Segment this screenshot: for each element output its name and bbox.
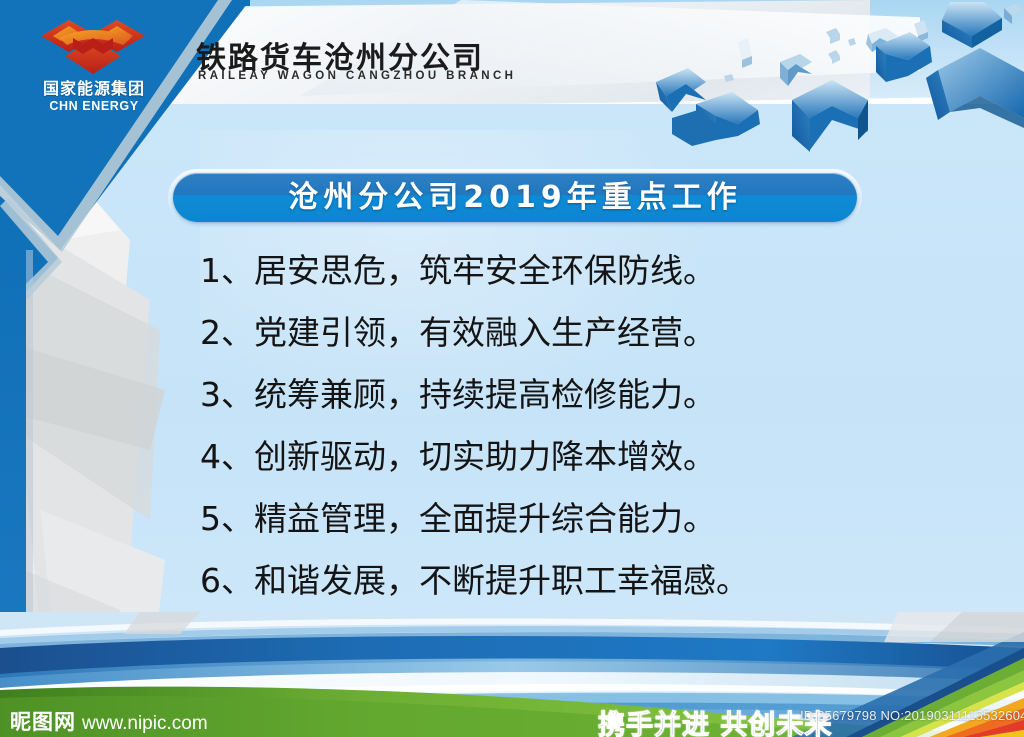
logo-company-cn: 国家能源集团	[24, 80, 164, 98]
logo: 国家能源集团 CHN ENERGY	[24, 16, 164, 116]
list-item: 2、党建引领，有效融入生产经营。	[200, 302, 860, 364]
chn-energy-emblem-icon	[39, 16, 149, 78]
blue-left-strip	[0, 250, 26, 670]
logo-company-en: CHN ENERGY	[24, 99, 164, 114]
list-item: 6、和谐发展，不断提升职工幸福感。	[200, 550, 860, 612]
list-item: 1、居安思危，筑牢安全环保防线。	[200, 240, 860, 302]
footer-slogan: 携手并进 共创未来	[598, 703, 832, 737]
image-id-code: ID:25679798 NO:20190311115532604036	[800, 708, 1024, 723]
nipic-watermark: 昵图网www.nipic.com	[10, 706, 208, 736]
floating-3d-blue-blocks-icon	[620, 0, 1024, 190]
work-items-list: 1、居安思危，筑牢安全环保防线。 2、党建引领，有效融入生产经营。 3、统筹兼顾…	[200, 240, 860, 612]
header-title-en: RAILEAY WAGON CANGZHOU BRANCH	[198, 70, 516, 82]
list-item: 5、精益管理，全面提升综合能力。	[200, 488, 860, 550]
banner-title: 沧州分公司2019年重点工作	[173, 173, 857, 222]
blue-left-strip-bevel	[26, 250, 33, 670]
list-item: 3、统筹兼顾，持续提高检修能力。	[200, 364, 860, 426]
list-item: 4、创新驱动，切实助力降本增效。	[200, 426, 860, 488]
watermark-url: www.nipic.com	[82, 713, 208, 734]
poster-canvas: 国家能源集团 CHN ENERGY 铁路货车沧州分公司 RAILEAY WAGO…	[0, 0, 1024, 737]
watermark-cn: 昵图网	[10, 710, 76, 734]
